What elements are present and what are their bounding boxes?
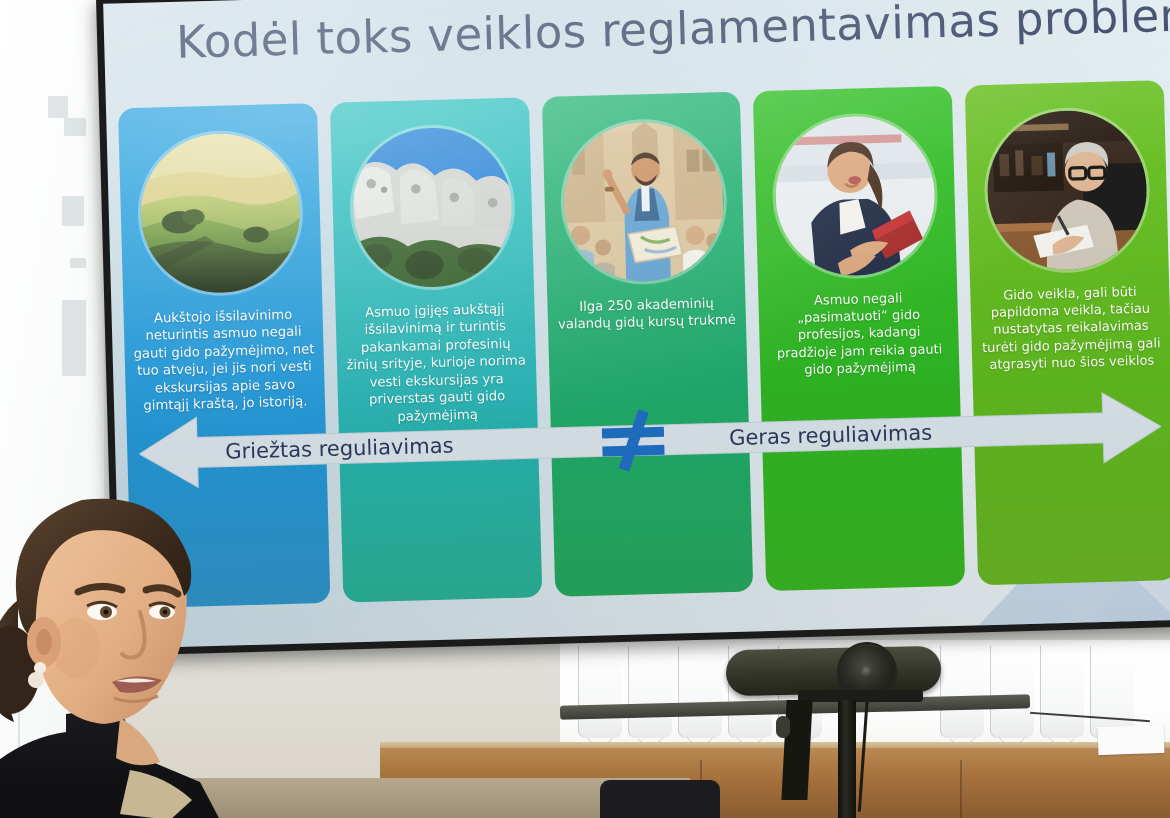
- woman-writing-at-desk-photo: [985, 109, 1148, 272]
- card-5[interactable]: Gido veikla, gali būti papildoma veikla,…: [965, 80, 1170, 585]
- conference-camera: [726, 646, 942, 696]
- card-1-text: Aukštojo išsilavinimo neturintis asmuo n…: [123, 306, 325, 416]
- presenter-person: [0, 470, 290, 818]
- photo-scene: Kodėl toks veiklos reglamentavimas probl…: [0, 0, 1170, 818]
- card-4[interactable]: Asmuo negali „pasimatuoti“ gido profesij…: [753, 86, 965, 591]
- tour-guide-with-map-photo: [562, 120, 725, 283]
- camera-stand-arm: [781, 700, 812, 800]
- window-blind: [1040, 646, 1084, 738]
- rolling-hills-landscape-photo: [139, 132, 302, 295]
- window-blind: [578, 646, 622, 738]
- window-blind: [1090, 646, 1134, 738]
- page-title: Kodėl toks veiklos reglamentavimas probl…: [176, 0, 1157, 69]
- paper-sheet: [1098, 725, 1165, 755]
- mount-rushmore-photo: [350, 126, 513, 289]
- not-equal-icon: [593, 407, 675, 475]
- chair: [600, 780, 720, 818]
- camera-stand-post: [838, 700, 856, 818]
- woman-presenting-with-folder-photo: [774, 114, 937, 277]
- card-4-text: Asmuo negali „pasimatuoti“ gido profesij…: [759, 289, 960, 380]
- window-blind: [990, 646, 1034, 738]
- window-blind: [678, 646, 722, 738]
- window-blind: [940, 646, 984, 738]
- card-2[interactable]: Asmuo įgijęs aukštąjį išsilavinimą ir tu…: [330, 97, 542, 602]
- card-3-text: Ilga 250 akademinių valandų gidų kursų t…: [547, 295, 747, 335]
- camera-stand-knob: [776, 716, 790, 738]
- card-3[interactable]: Ilga 250 akademinių valandų gidų kursų t…: [541, 92, 753, 597]
- camera-mount-plate: [798, 690, 923, 702]
- window-blind: [628, 646, 672, 738]
- card-5-text: Gido veikla, gali būti papildoma veikla,…: [970, 283, 1170, 374]
